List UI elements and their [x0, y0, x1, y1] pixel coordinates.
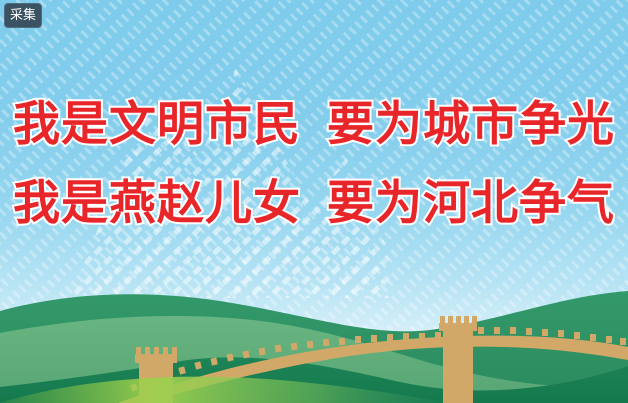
slogan-line-1-left: 我是文明市民 [13, 97, 301, 152]
slogan-line-2-left: 我是燕赵儿女 [13, 176, 301, 231]
slogan-line-2-right: 要为河北争气 [327, 176, 615, 231]
watchtower-right [439, 316, 477, 403]
banner-screenshot: 我是文明市民要为城市争光 我是燕赵儿女要为河北争气 采集 [0, 0, 628, 403]
slogan-line-1-right: 要为城市争光 [327, 97, 615, 152]
capture-button[interactable]: 采集 [4, 3, 42, 28]
slogan-line-1: 我是文明市民要为城市争光 [0, 101, 628, 148]
slogan-line-2: 我是燕赵儿女要为河北争气 [0, 180, 628, 227]
